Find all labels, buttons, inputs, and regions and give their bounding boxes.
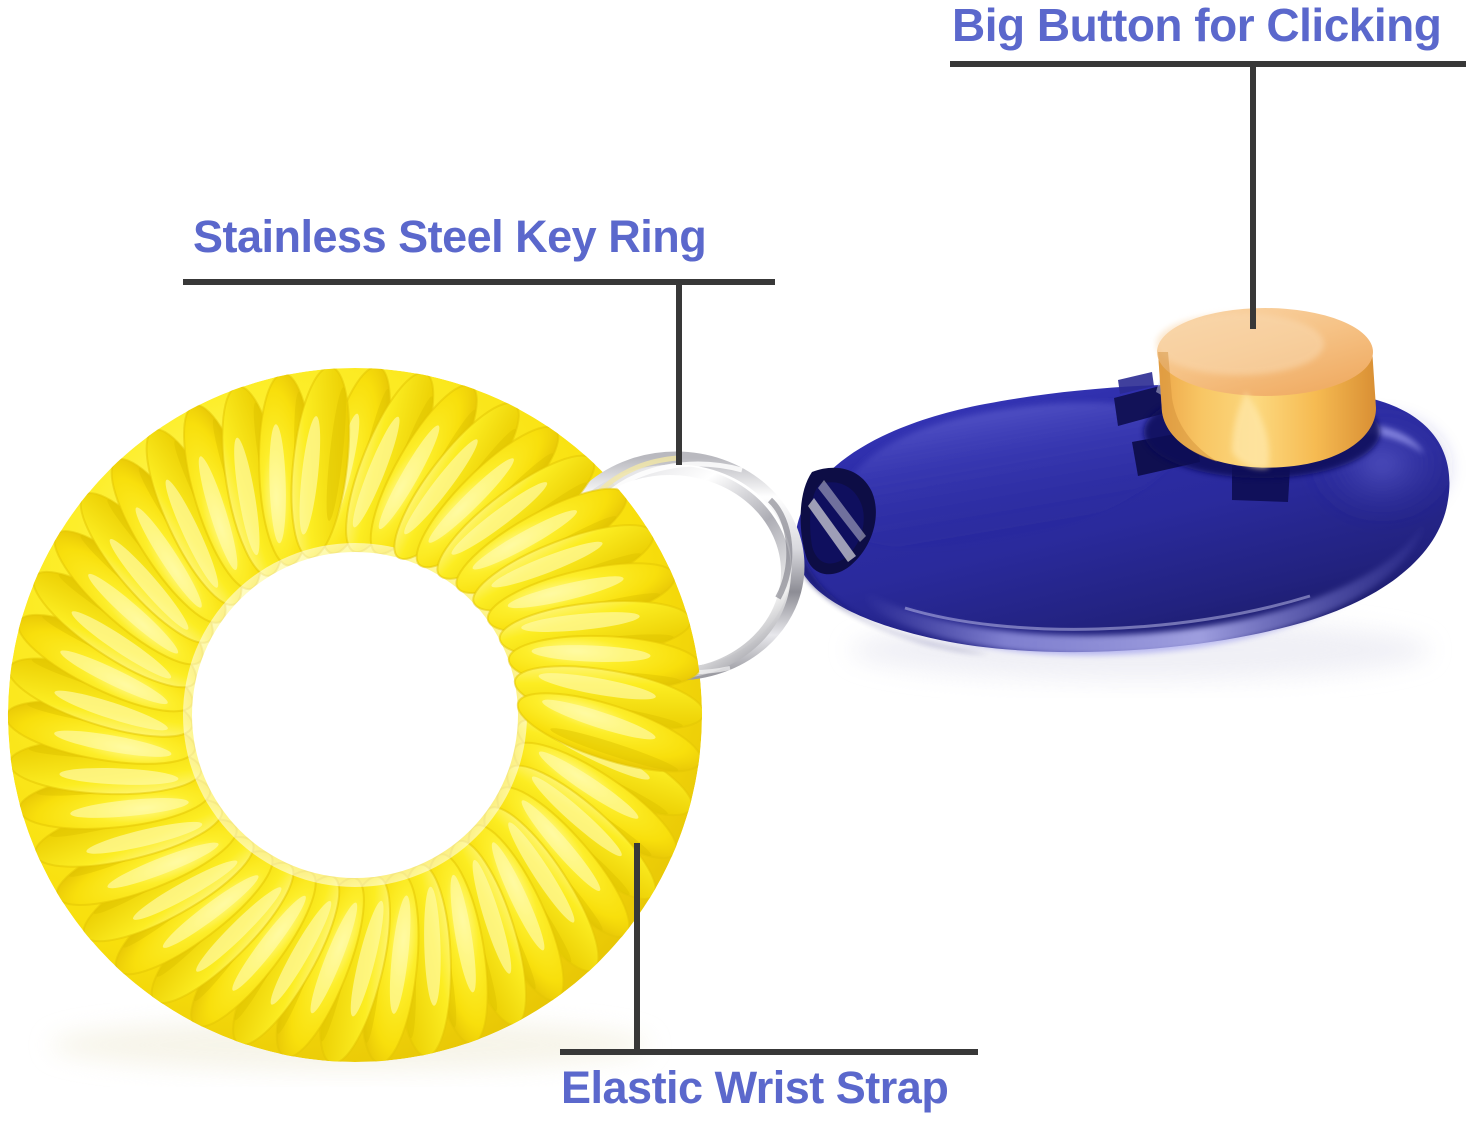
callout-label-key-ring: Stainless Steel Key Ring bbox=[193, 214, 706, 259]
infographic-canvas: Big Button for Clicking Stainless Steel … bbox=[0, 0, 1466, 1134]
orange-click-button bbox=[1144, 308, 1380, 478]
callout-label-big-button: Big Button for Clicking bbox=[952, 2, 1441, 48]
leader-line-key-ring-vertical bbox=[676, 279, 682, 465]
callout-label-wrist-strap: Elastic Wrist Strap bbox=[561, 1065, 948, 1110]
leader-line-wrist-strap-horizontal bbox=[560, 1049, 978, 1055]
leader-line-big-button-horizontal bbox=[950, 61, 1466, 67]
leader-line-key-ring-horizontal bbox=[183, 279, 775, 285]
stainless-steel-split-ring bbox=[554, 458, 798, 674]
button-vent-slots bbox=[1114, 372, 1290, 502]
leader-line-wrist-strap-vertical bbox=[634, 843, 640, 1051]
leader-line-big-button-vertical bbox=[1250, 61, 1256, 329]
product-photo bbox=[0, 0, 1466, 1134]
yellow-coil-wrist-strap bbox=[1, 360, 703, 1071]
blue-clicker-body bbox=[795, 372, 1454, 680]
coil-overlap-front bbox=[377, 389, 709, 788]
